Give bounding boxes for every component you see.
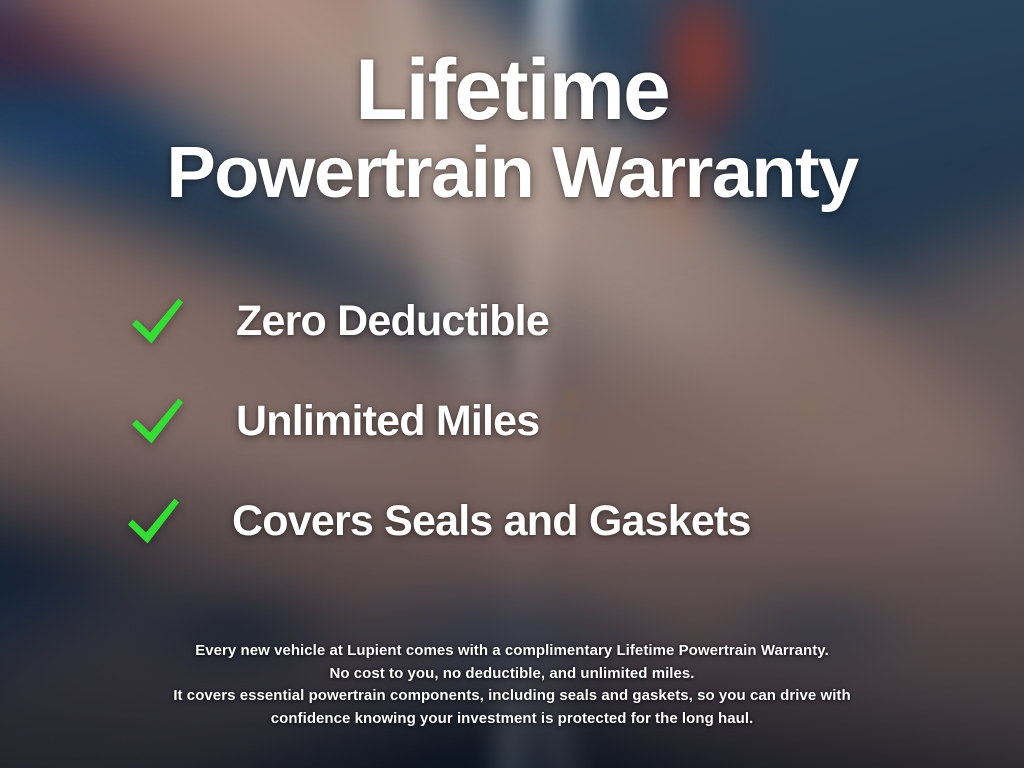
description-line-3: It covers essential powertrain component…	[70, 685, 954, 708]
page-title: Lifetime Powertrain Warranty	[0, 46, 1024, 212]
banner-content: Lifetime Powertrain Warranty Zero Deduct…	[0, 0, 1024, 768]
green-check-icon	[124, 495, 182, 547]
feature-item-unlimited-miles: Unlimited Miles	[0, 388, 1024, 454]
description-line-4: confidence knowing your investment is pr…	[70, 708, 954, 731]
feature-label: Zero Deductible	[236, 298, 549, 344]
description-line-1: Every new vehicle at Lupient comes with …	[70, 640, 954, 663]
feature-item-zero-deductible: Zero Deductible	[0, 288, 1024, 354]
description-line-2: No cost to you, no deductible, and unlim…	[70, 663, 954, 686]
description-paragraph: Every new vehicle at Lupient comes with …	[0, 640, 1024, 730]
feature-item-covers-seals-and-gaskets: Covers Seals and Gaskets	[0, 488, 1024, 554]
headline-line-1: Lifetime	[0, 46, 1024, 134]
green-check-icon	[128, 295, 186, 347]
feature-label: Unlimited Miles	[236, 398, 539, 444]
warranty-promo-banner: Lifetime Powertrain Warranty Zero Deduct…	[0, 0, 1024, 768]
headline-line-2: Powertrain Warranty	[0, 134, 1024, 212]
green-check-icon	[128, 395, 186, 447]
feature-label: Covers Seals and Gaskets	[232, 498, 751, 544]
feature-list: Zero Deductible Unlimited Miles Covers S…	[0, 288, 1024, 588]
